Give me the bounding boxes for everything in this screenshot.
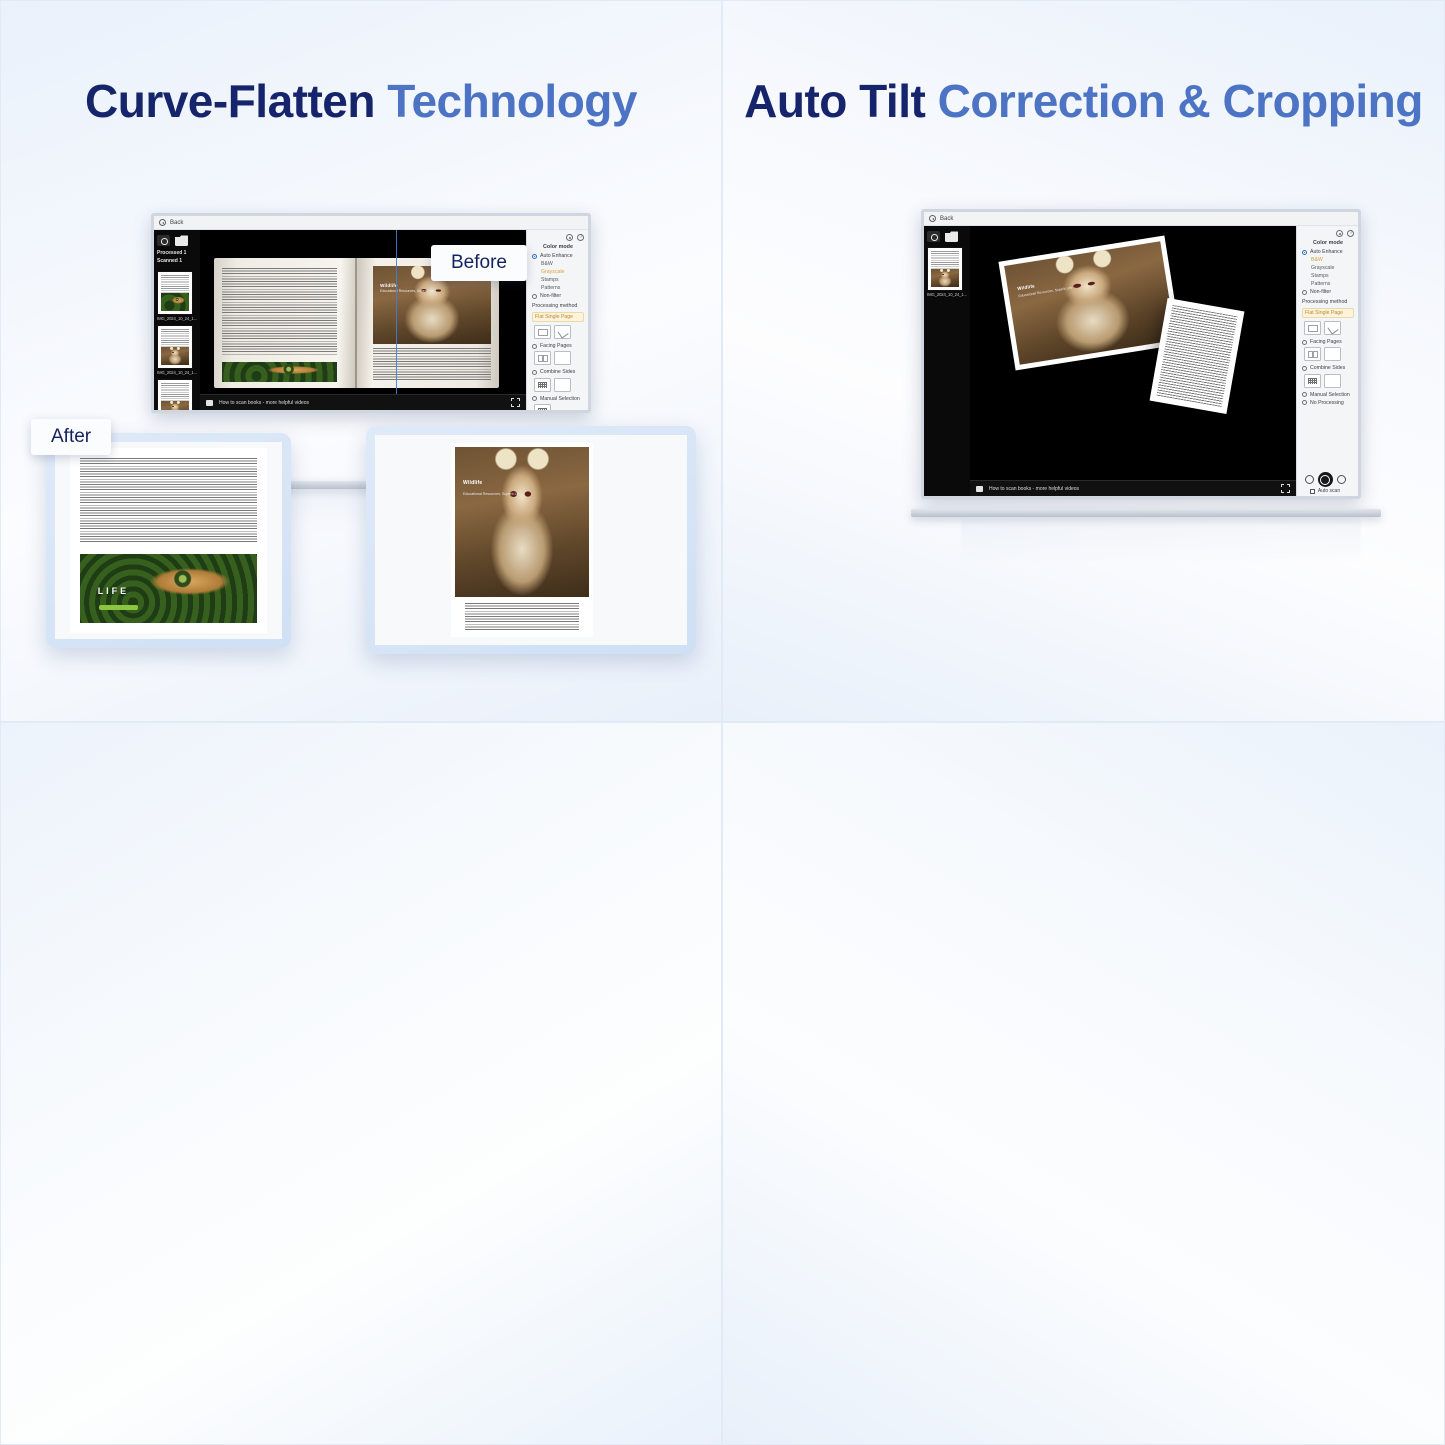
scanned-counter: Scanned 1 (157, 258, 197, 266)
radio-icon[interactable] (532, 396, 537, 401)
heading-part-a: Curve-Flatten (85, 75, 387, 127)
tilted-photo-preview: Wildlife Educational Resources, Superb L… (998, 236, 1181, 371)
radio-icon[interactable] (532, 370, 537, 375)
processed-counter: Processed 1 (157, 250, 197, 258)
radio-icon[interactable] (532, 344, 537, 349)
after-card-inner: Wildlife Educational Resources, Superb L… (375, 435, 687, 645)
laptop-base (911, 509, 1381, 517)
option-non-filter[interactable]: Non-filter (1302, 289, 1354, 295)
suboption-grayscale[interactable]: Grayscale (1311, 265, 1354, 271)
rotate-right-icon[interactable] (1337, 475, 1346, 484)
auto-scan-checkbox[interactable] (1310, 489, 1315, 494)
camera-icon[interactable] (927, 231, 940, 242)
combine-sides-alt-icon[interactable] (1324, 374, 1341, 388)
thumbnail-rail: Processed 1 Scanned 1 IMG_2024_10_24_1..… (154, 230, 200, 410)
back-label[interactable]: Back (940, 216, 953, 222)
panel-auto-tilt: Auto Tilt Correction & Cropping Back (722, 0, 1445, 722)
option-auto-enhance[interactable]: Auto Enhance (1302, 249, 1354, 255)
option-manual-selection[interactable]: Manual Selection (1302, 392, 1354, 398)
doc-photo-subtitle: Educational Resources, Superb Life (380, 289, 434, 293)
suboption-bw[interactable]: B&W (1311, 257, 1354, 263)
facing-pages-alt-icon[interactable] (554, 351, 571, 365)
doc-photo-title: Wildlife (1017, 283, 1035, 291)
thumbnail-rail: IMG_2024_10_24_1... (924, 226, 970, 496)
option-facing-pages[interactable]: Facing Pages (1302, 339, 1354, 345)
scan-controls-2: Auto scan (1296, 472, 1354, 494)
flat-single-page-icon[interactable] (534, 325, 551, 339)
heading-part-b: Technology (387, 75, 637, 127)
radio-icon[interactable] (532, 254, 537, 259)
suboption-patterns[interactable]: Patterns (1311, 281, 1354, 287)
app-titlebar: Back (924, 212, 1358, 226)
suboption-grayscale[interactable]: Grayscale (541, 269, 584, 275)
after-card-left-1: LIFE (46, 433, 291, 648)
radio-icon[interactable] (1302, 366, 1307, 371)
edit-pen-icon[interactable] (554, 325, 571, 339)
folder-icon[interactable] (945, 231, 958, 242)
doc-photo-title: Wildlife (463, 480, 482, 486)
suboption-stamps[interactable]: Stamps (1311, 273, 1354, 279)
settings-panel-2: Color mode Auto Enhance B&W Grayscale St… (1296, 226, 1358, 496)
panel-1-heading: Curve-Flatten Technology (1, 77, 721, 125)
thumbnail-item[interactable] (157, 325, 193, 369)
suboption-patterns[interactable]: Patterns (541, 285, 584, 291)
gear-icon[interactable] (1336, 230, 1343, 237)
combine-sides-alt-icon[interactable] (554, 378, 571, 392)
folder-icon[interactable] (175, 235, 188, 246)
app-bottom-toolbar-1: How to scan books - more helpful videos (200, 394, 526, 410)
panel-auto-page-mending: Auto Page Mending Only available for whi… (0, 722, 722, 1445)
edit-pen-icon[interactable] (1324, 321, 1341, 335)
flat-single-page-icon[interactable] (1304, 321, 1321, 335)
app-window-1: Back Processed 1 Scanned 1 (151, 213, 591, 413)
back-arrow-icon[interactable] (159, 219, 166, 226)
app-bottom-toolbar-2: How to scan books - more helpful videos (970, 480, 1296, 496)
processing-method-title: Processing method (1302, 299, 1354, 305)
laptop-mockup-2: Back IMG_2024_10_24_1... (921, 209, 1361, 499)
life-magazine-title: LIFE (98, 586, 130, 596)
life-cta-button (99, 605, 138, 610)
color-mode-title: Color mode (1302, 240, 1354, 246)
auto-scan-label: Auto scan (1318, 488, 1340, 494)
camera-icon[interactable] (157, 235, 170, 246)
thumbnail-caption: IMG_2024_10_24_1... (157, 370, 197, 375)
laptop-mockup-1: Back Processed 1 Scanned 1 (151, 213, 591, 413)
focus-frame-icon[interactable] (1281, 484, 1290, 493)
tilted-text-page-preview (1150, 298, 1245, 414)
after-card-inner: LIFE (55, 442, 282, 639)
panel-multi-target: Multi-target Scanning Back (722, 722, 1445, 1445)
suboption-stamps[interactable]: Stamps (541, 277, 584, 283)
panel-curve-flatten: Curve-Flatten Technology Back Processed (0, 0, 722, 722)
settings-panel-1: Color mode Auto Enhance B&W Grayscale St… (526, 230, 588, 410)
heading-part-b: Correction & Cropping (938, 75, 1423, 127)
option-combine-sides[interactable]: Combine Sides (1302, 365, 1354, 371)
doc-photo-title: Wildlife (380, 283, 398, 288)
facing-pages-alt-icon[interactable] (1324, 347, 1341, 361)
doc-photo-subtitle: Educational Resources, Superb Life (463, 492, 520, 496)
suboption-bw[interactable]: B&W (541, 261, 584, 267)
gear-icon[interactable] (566, 234, 573, 241)
app-window-2: Back IMG_2024_10_24_1... (921, 209, 1361, 499)
facing-pages-icon[interactable] (1304, 347, 1321, 361)
center-guide-line (396, 230, 397, 410)
processing-selected[interactable]: Flat Single Page (532, 312, 584, 322)
thumbnail-caption: IMG_2024_10_24_1... (927, 292, 967, 297)
combine-sides-icon[interactable] (534, 378, 551, 392)
radio-icon[interactable] (1302, 400, 1307, 405)
preview-stage-2: Wildlife Educational Resources, Superb L… (970, 226, 1296, 496)
processing-selected[interactable]: Flat Single Page (1302, 308, 1354, 318)
focus-frame-icon[interactable] (511, 398, 520, 407)
video-icon[interactable] (976, 486, 983, 492)
app-titlebar: Back (154, 216, 588, 230)
video-link-label[interactable]: How to scan books - more helpful videos (989, 486, 1079, 492)
combine-sides-icon[interactable] (1304, 374, 1321, 388)
option-facing-pages[interactable]: Facing Pages (532, 343, 584, 349)
heading-part-a: Auto Tilt (744, 75, 937, 127)
back-label[interactable]: Back (170, 220, 183, 226)
option-manual-selection[interactable]: Manual Selection (532, 396, 584, 402)
video-link-label[interactable]: How to scan books - more helpful videos (219, 400, 309, 406)
option-auto-enhance[interactable]: Auto Enhance (532, 253, 584, 259)
thumbnail-item[interactable] (157, 379, 193, 414)
radio-icon[interactable] (1302, 392, 1307, 397)
radio-icon[interactable] (1302, 290, 1307, 295)
radio-icon[interactable] (1302, 340, 1307, 345)
help-icon[interactable] (1347, 230, 1354, 237)
help-icon[interactable] (577, 234, 584, 241)
video-icon[interactable] (206, 400, 213, 406)
before-tag-1: Before (431, 245, 527, 281)
feature-grid: Curve-Flatten Technology Back Processed (0, 0, 1445, 1445)
color-mode-title: Color mode (532, 244, 584, 250)
option-combine-sides[interactable]: Combine Sides (532, 369, 584, 375)
thumbnail-caption: IMG_2024_10_24_1... (157, 316, 197, 321)
after-card-right-1: Wildlife Educational Resources, Superb L… (366, 426, 696, 654)
manual-selection-icon[interactable] (534, 404, 551, 413)
processing-method-title: Processing method (532, 303, 584, 309)
option-non-filter[interactable]: Non-filter (532, 293, 584, 299)
rotate-left-icon[interactable] (1305, 475, 1314, 484)
scan-shutter-button[interactable] (1318, 472, 1333, 487)
after-tag-1: After (31, 419, 111, 455)
option-no-processing[interactable]: No Processing (1302, 400, 1354, 406)
radio-icon[interactable] (532, 294, 537, 299)
panel-2-heading: Auto Tilt Correction & Cropping (723, 77, 1444, 125)
laptop-reflection (961, 519, 1361, 564)
thumbnail-item[interactable] (927, 247, 963, 291)
facing-pages-icon[interactable] (534, 351, 551, 365)
radio-icon[interactable] (1302, 250, 1307, 255)
thumbnail-item[interactable] (157, 271, 193, 315)
back-arrow-icon[interactable] (929, 215, 936, 222)
